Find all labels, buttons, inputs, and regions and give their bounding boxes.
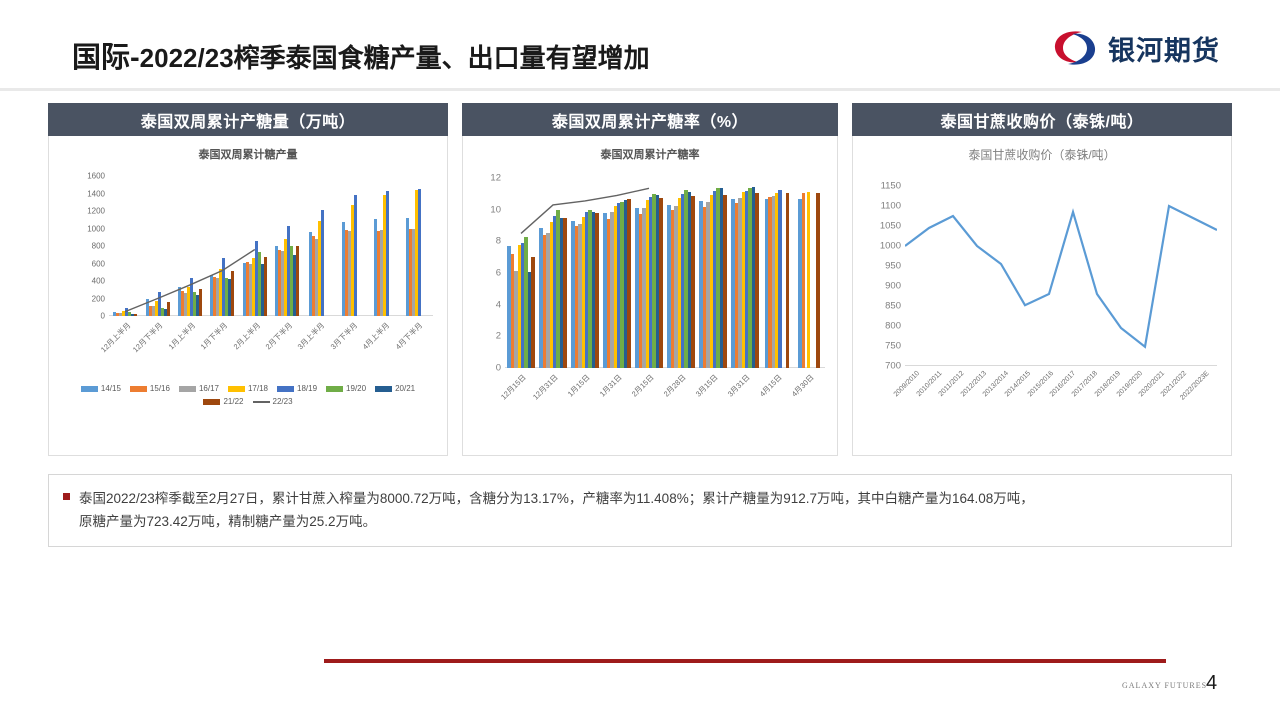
legend-swatch-icon (253, 401, 270, 403)
footer-accent-bar (324, 659, 1166, 663)
chart1-legend-item-16-17[interactable]: 16/17 (179, 384, 219, 393)
legend-label: 14/15 (101, 384, 121, 393)
chart1-plot-area: 02004006008001000120014001600 (109, 176, 433, 316)
chart1-xtick-label: 12月下半月 (130, 320, 165, 355)
summary-line-1: 泰国2022/23榨季截至2月27日，累计甘蔗入榨量为8000.72万吨，含糖分… (79, 491, 1034, 506)
legend-label: 20/21 (395, 384, 415, 393)
chart2-xtick-label: 3月15日 (694, 372, 721, 399)
chart3-ytick: 1150 (881, 181, 901, 192)
chart3-plot-area: 7007508008509009501000105011001150 (905, 186, 1217, 366)
chart1-ytick: 600 (92, 259, 105, 268)
chart1-xtick-label: 4月下半月 (393, 320, 425, 352)
chart3-ytick: 850 (885, 301, 901, 312)
panel-header-sugar-rate: 泰国双周累计产糖率（%） (462, 103, 838, 136)
chart1-ytick: 800 (92, 242, 105, 251)
chart1-trend-line-22-23 (109, 176, 433, 316)
panel-sugar-output: 泰国双周累计产糖量（万吨） 泰国双周累计糖产量 0200400600800100… (48, 103, 448, 458)
summary-text: 泰国2022/23榨季截至2月27日，累计甘蔗入榨量为8000.72万吨，含糖分… (79, 487, 1034, 533)
chart1-legend-item-19-20[interactable]: 19/20 (326, 384, 366, 393)
chart1-title: 泰国双周累计糖产量 (49, 146, 447, 162)
chart1-legend-item-17-18[interactable]: 17/18 (228, 384, 268, 393)
chart2-xtick-label: 1月15日 (566, 372, 593, 399)
legend-label: 16/17 (199, 384, 219, 393)
chart2-ytick: 10 (490, 204, 501, 215)
panel-sugar-rate: 泰国双周累计产糖率（%） 泰国双周累计产糖率 024681012 12月15日1… (462, 103, 838, 458)
chart1-legend-item-18-19[interactable]: 18/19 (277, 384, 317, 393)
chart3-ytick: 700 (885, 361, 901, 372)
chart2-ytick: 4 (496, 299, 501, 310)
panel-body-sugar-rate: 泰国双周累计产糖率 024681012 12月15日12月31日1月15日1月3… (462, 136, 838, 456)
chart3-title: 泰国甘蔗收购价（泰铢/吨） (853, 146, 1231, 163)
chart3-ytick: 1100 (881, 200, 901, 211)
chart2-ytick: 8 (496, 236, 501, 247)
panel-header-cane-price: 泰国甘蔗收购价（泰铢/吨） (852, 103, 1232, 136)
legend-label: 21/22 (223, 397, 243, 406)
legend-label: 17/18 (248, 384, 268, 393)
page-number: 4 (1206, 672, 1217, 695)
chart1-legend: 14/1515/1616/1717/1818/1919/2020/2121/22… (49, 384, 447, 406)
legend-label: 19/20 (346, 384, 366, 393)
legend-label: 18/19 (297, 384, 317, 393)
page-title: 国际-2022/23榨季泰国食糖产量、出口量有望增加 (72, 34, 650, 76)
chart1-xtick-label: 4月上半月 (360, 320, 392, 352)
chart2-ytick: 6 (496, 268, 501, 279)
chart3-ytick: 1000 (880, 241, 901, 252)
chart2-plot-area: 024681012 (505, 178, 825, 368)
chart1-legend-item-20-21[interactable]: 20/21 (375, 384, 415, 393)
chart2-xtick-label: 2月15日 (630, 372, 657, 399)
legend-swatch-icon (130, 386, 147, 392)
chart3-ytick: 950 (885, 260, 901, 271)
chart3-ytick: 800 (885, 321, 901, 332)
footer-brand: GALAXY FUTURES (1122, 681, 1207, 690)
chart2-ytick: 12 (490, 173, 501, 184)
chart1-legend-item-14-15[interactable]: 14/15 (81, 384, 121, 393)
chart1-xtick-label: 1月下半月 (198, 320, 230, 352)
bullet-square-icon (63, 493, 70, 500)
chart2-xtick-label: 12月15日 (499, 372, 529, 402)
chart3-ytick: 750 (885, 340, 901, 351)
chart1-legend-item-21-22[interactable]: 21/22 (203, 397, 243, 406)
logo-text: 银河期货 (1108, 29, 1220, 68)
chart1-ytick: 200 (92, 294, 105, 303)
header-divider (0, 88, 1280, 91)
chart2-ytick: 2 (496, 331, 501, 342)
chart1-legend-item-15-16[interactable]: 15/16 (130, 384, 170, 393)
legend-label: 22/23 (273, 397, 293, 406)
galaxy-swoosh-icon (1052, 28, 1098, 68)
chart1-xtick-label: 2月上半月 (231, 320, 263, 352)
page-title-main: 国际- (72, 42, 140, 74)
chart1-ytick: 0 (101, 312, 105, 321)
chart1-xtick-label: 3月下半月 (328, 320, 360, 352)
chart3-ytick: 1050 (880, 220, 901, 231)
summary-line-2: 原糖产量为723.42万吨，精制糖产量为25.2万吨。 (79, 510, 1034, 533)
chart1-xtick-label: 1月上半月 (166, 320, 198, 352)
chart2-xtick-label: 12月31日 (531, 372, 561, 402)
panel-body-cane-price: 泰国甘蔗收购价（泰铢/吨） 70075080085090095010001050… (852, 136, 1232, 456)
page-title-sub: 2022/23榨季泰国食糖产量、出口量有望增加 (140, 43, 650, 73)
panel-header-sugar-output: 泰国双周累计产糖量（万吨） (48, 103, 448, 136)
legend-label: 15/16 (150, 384, 170, 393)
chart1-legend-item-22-23[interactable]: 22/23 (253, 397, 293, 406)
panel-cane-price: 泰国甘蔗收购价（泰铢/吨） 泰国甘蔗收购价（泰铢/吨） 700750800850… (852, 103, 1232, 458)
chart1-ytick: 1200 (87, 207, 105, 216)
chart2-xtick-label: 2月28日 (662, 372, 689, 399)
company-logo: 银河期货 (1052, 28, 1220, 68)
chart1-xtick-label: 12月上半月 (98, 320, 133, 355)
legend-swatch-icon (228, 386, 245, 392)
chart2-xtick-label: 1月31日 (598, 372, 625, 399)
chart2-xtick-label: 4月30日 (790, 372, 817, 399)
chart2-trend-line-22-23 (505, 178, 825, 368)
panel-body-sugar-output: 泰国双周累计糖产量 02004006008001000120014001600 … (48, 136, 448, 456)
chart2-title: 泰国双周累计产糖率 (463, 146, 837, 162)
chart3-line-series (905, 186, 1217, 366)
legend-swatch-icon (277, 386, 294, 392)
legend-swatch-icon (81, 386, 98, 392)
chart2-xtick-label: 3月31日 (726, 372, 753, 399)
chart2-ytick: 0 (496, 363, 501, 374)
legend-swatch-icon (179, 386, 196, 392)
chart1-xtick-label: 2月下半月 (263, 320, 295, 352)
chart2-xtick-label: 4月15日 (758, 372, 785, 399)
legend-swatch-icon (203, 399, 220, 405)
chart1-ytick: 1400 (87, 189, 105, 198)
legend-swatch-icon (375, 386, 392, 392)
chart1-ytick: 400 (92, 277, 105, 286)
chart1-ytick: 1000 (87, 224, 105, 233)
chart3-ytick: 900 (885, 281, 901, 292)
chart1-ytick: 1600 (87, 172, 105, 181)
legend-swatch-icon (326, 386, 343, 392)
summary-textbox: 泰国2022/23榨季截至2月27日，累计甘蔗入榨量为8000.72万吨，含糖分… (48, 474, 1232, 547)
chart1-xtick-label: 3月上半月 (295, 320, 327, 352)
